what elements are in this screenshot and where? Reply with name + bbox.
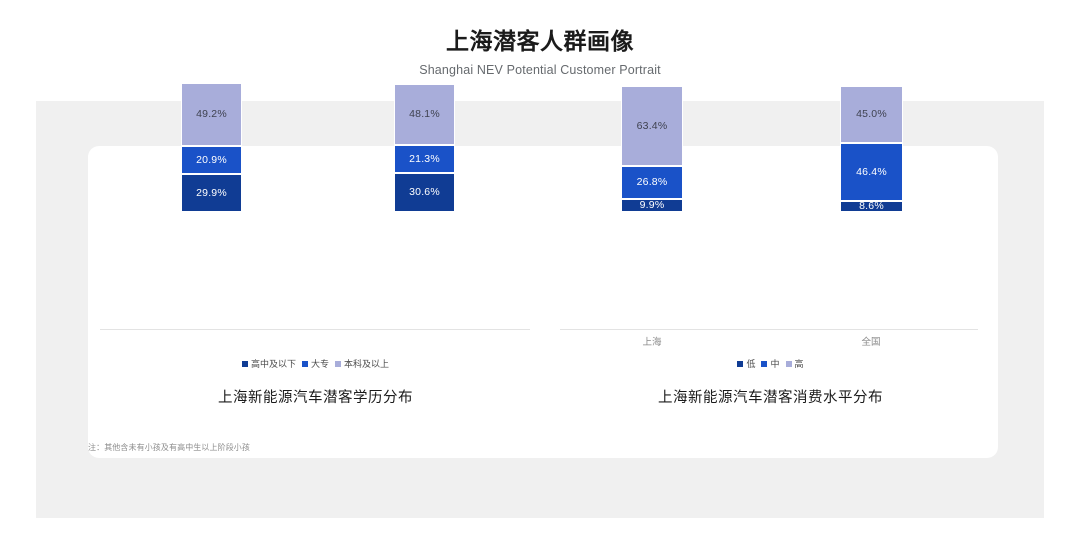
chart-education-distribution: 49.2% 20.9% 29.9% 48.1% 21.3% 3	[88, 146, 543, 458]
footnote: 注：其他含未有小孩及有高中生以上阶段小孩	[88, 442, 250, 453]
legend-label: 高中及以下	[251, 357, 296, 370]
bar-segment-secondary[interactable]: 21.3%	[394, 145, 455, 173]
legend-swatch-icon	[737, 361, 743, 367]
bar-segment-value: 30.6%	[409, 187, 440, 198]
legend-item[interactable]: 本科及以上	[333, 357, 391, 370]
chart-caption: 上海新能源汽车潜客消费水平分布	[543, 386, 998, 407]
chart-legend-consumption: 低 中 高	[543, 357, 998, 370]
bar-segment-value: 8.6%	[859, 201, 884, 212]
bar-segment-tertiary[interactable]: 45.0%	[840, 86, 903, 143]
bar-segment-value: 45.0%	[856, 109, 887, 120]
legend-label: 中	[770, 357, 779, 370]
x-axis-line	[560, 329, 978, 330]
legend-swatch-icon	[242, 361, 248, 367]
bar-segment-value: 9.9%	[640, 200, 665, 211]
bar-segment-secondary[interactable]: 26.8%	[621, 166, 683, 199]
bar-segment-value: 49.2%	[196, 109, 227, 120]
bar-segment-primary[interactable]: 30.6%	[394, 173, 455, 212]
bar-segment-primary[interactable]: 29.9%	[181, 174, 242, 212]
bar-stack[interactable]: 48.1% 21.3% 30.6%	[394, 84, 455, 212]
bar-stack[interactable]: 49.2% 20.9% 29.9%	[181, 83, 242, 212]
page-header: 上海潜客人群画像 Shanghai NEV Potential Customer…	[0, 0, 1080, 77]
charts-card: 49.2% 20.9% 29.9% 48.1% 21.3% 3	[88, 146, 998, 458]
bar-segment-primary[interactable]: 9.9%	[621, 199, 683, 212]
bar-segment-value: 48.1%	[409, 109, 440, 120]
legend-label: 大专	[311, 357, 329, 370]
plot-area-education: 49.2% 20.9% 29.9% 48.1% 21.3% 3	[88, 146, 543, 341]
legend-label: 本科及以上	[344, 357, 389, 370]
legend-label: 低	[746, 357, 755, 370]
legend-swatch-icon	[302, 361, 308, 367]
legend-item[interactable]: 低	[735, 357, 757, 370]
x-tick-label: 全国	[831, 334, 911, 348]
legend-item[interactable]: 中	[759, 357, 781, 370]
bar-segment-value: 46.4%	[856, 167, 887, 178]
chart-legend-education: 高中及以下 大专 本科及以上	[88, 357, 543, 370]
bar-segment-secondary[interactable]: 46.4%	[840, 143, 903, 201]
x-axis-line	[100, 329, 530, 330]
bar-segment-value: 26.8%	[637, 177, 668, 188]
legend-item[interactable]: 高	[784, 357, 806, 370]
bar-segment-tertiary[interactable]: 63.4%	[621, 86, 683, 166]
chart-caption: 上海新能源汽车潜客学历分布	[88, 386, 543, 407]
bar-segment-primary[interactable]: 8.6%	[840, 201, 903, 212]
page-subtitle: Shanghai NEV Potential Customer Portrait	[0, 56, 1080, 77]
bar-segment-value: 63.4%	[637, 121, 668, 132]
bar-segment-tertiary[interactable]: 49.2%	[181, 83, 242, 146]
plot-area-consumption: 63.4% 26.8% 9.9% 上海 45.0% 46.4%	[543, 146, 998, 341]
bar-segment-value: 21.3%	[409, 154, 440, 165]
x-tick-label: 上海	[612, 334, 692, 348]
page-title: 上海潜客人群画像	[0, 0, 1080, 56]
bar-segment-secondary[interactable]: 20.9%	[181, 146, 242, 174]
legend-swatch-icon	[761, 361, 767, 367]
bar-stack[interactable]: 63.4% 26.8% 9.9%	[621, 86, 683, 212]
bar-stack[interactable]: 45.0% 46.4% 8.6%	[840, 86, 903, 212]
bar-segment-value: 20.9%	[196, 155, 227, 166]
bar-segment-tertiary[interactable]: 48.1%	[394, 84, 455, 145]
legend-item[interactable]: 大专	[300, 357, 331, 370]
legend-label: 高	[795, 357, 804, 370]
bar-segment-value: 29.9%	[196, 188, 227, 199]
legend-swatch-icon	[786, 361, 792, 367]
legend-swatch-icon	[335, 361, 341, 367]
legend-item[interactable]: 高中及以下	[240, 357, 298, 370]
chart-consumption-distribution: 63.4% 26.8% 9.9% 上海 45.0% 46.4%	[543, 146, 998, 458]
